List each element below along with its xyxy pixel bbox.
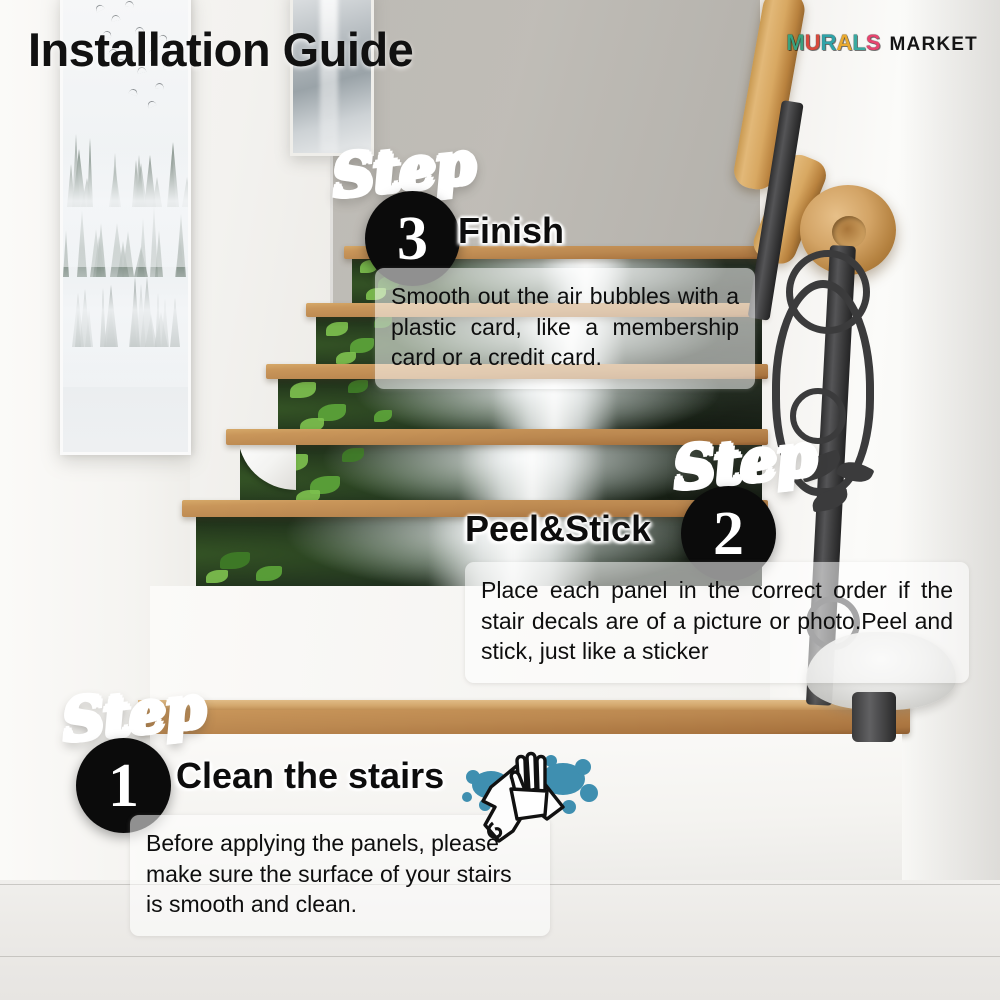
installation-guide-poster: Installation Guide MURALS MARKET Step 3 … [0, 0, 1000, 1000]
stair-tread-1-nosing [138, 700, 910, 710]
logo-letter-m-0: M [786, 32, 804, 54]
handrail-volute-eye [832, 216, 866, 248]
step-3-body: Smooth out the air bubbles with a plasti… [375, 268, 755, 389]
step-2-number: 2 [713, 503, 744, 565]
step-2-word: Step [670, 425, 817, 498]
logo-letter-s-5: S [866, 32, 881, 54]
iron-scroll-top [786, 250, 870, 334]
step-1-title: Clean the stairs [176, 755, 444, 797]
brand-logo[interactable]: MURALS MARKET [786, 32, 978, 54]
step-3-title: Finish [458, 210, 564, 252]
step-2-title: Peel&Stick [465, 508, 651, 550]
page-title: Installation Guide [28, 22, 413, 77]
newel-base-cap [852, 692, 896, 742]
logo-letter-l-4: L [852, 32, 865, 54]
hand-wiping-cloth-icon [455, 745, 605, 855]
logo-market-text: MARKET [890, 35, 978, 54]
logo-letter-r-2: R [821, 32, 837, 54]
logo-letter-a-3: A [836, 32, 852, 54]
step-1-number: 1 [108, 755, 139, 817]
floor-seam-1 [0, 956, 1000, 957]
step-3-number: 3 [397, 208, 428, 270]
logo-letter-u-1: U [805, 32, 821, 54]
logo-murals-text: MURALS [786, 32, 880, 54]
step-2-body: Place each panel in the correct order if… [465, 562, 969, 683]
